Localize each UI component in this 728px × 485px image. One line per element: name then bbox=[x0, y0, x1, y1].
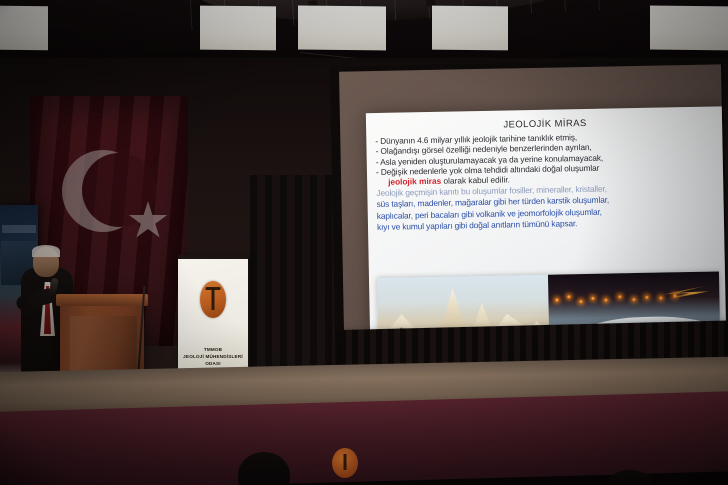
banner-line: TMMOB bbox=[178, 346, 248, 353]
seat-headrest-cover bbox=[0, 6, 48, 51]
poster-title-strip bbox=[2, 225, 36, 233]
seat-headrest-cover bbox=[200, 6, 276, 51]
slide-body: - Dünyanın 4.6 milyar yıllık jeolojik ta… bbox=[366, 126, 726, 233]
presentation-photo-scene: JEOLOJİK MİRAS - Dünyanın 4.6 milyar yıl… bbox=[0, 0, 728, 485]
seat-cover-logo-icon bbox=[332, 448, 358, 478]
banner-line: ODASI bbox=[178, 360, 248, 367]
lectern-top bbox=[56, 294, 148, 306]
hammer-handle-icon bbox=[212, 289, 215, 310]
seat-headrest-cover bbox=[650, 6, 728, 51]
seat-headrest-cover bbox=[298, 6, 386, 51]
crescent-icon bbox=[62, 150, 144, 232]
speaker-hair bbox=[32, 245, 60, 257]
banner-line: JEOLOJİ MÜHENDİSLERİ bbox=[178, 353, 248, 360]
definition-rest: olarak kabul edilir. bbox=[441, 175, 510, 186]
seat-headrest-cover bbox=[432, 6, 508, 51]
tmmob-hammer-logo-icon bbox=[200, 281, 226, 318]
banner-top-rail bbox=[178, 255, 248, 259]
highlighted-term: jeolojik miras bbox=[388, 176, 441, 187]
